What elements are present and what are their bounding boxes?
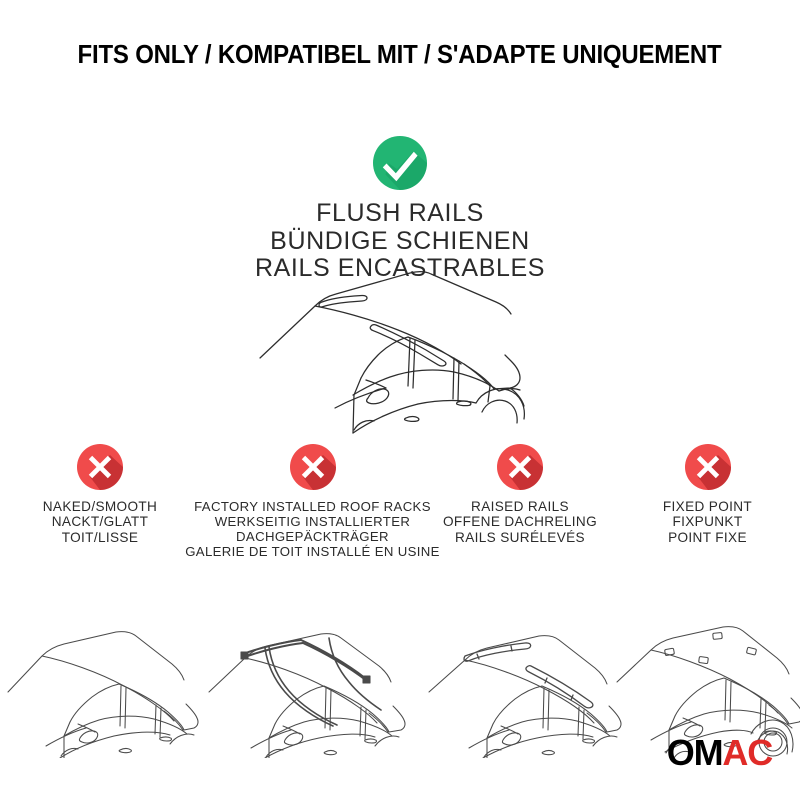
- approved-label-en: FLUSH RAILS: [255, 200, 545, 228]
- option-factory-installed-roof-racks: FACTORY INSTALLED ROOF RACKS WERKSEITIG …: [200, 444, 425, 764]
- option-label-en: FIXED POINT: [663, 499, 752, 514]
- option-label-de: NACKT/GLATT: [43, 514, 157, 529]
- omac-logo: OM AC: [667, 732, 772, 774]
- option-labels: FIXED POINT FIXPUNKT POINT FIXE: [663, 499, 752, 545]
- option-labels: RAISED RAILS OFFENE DACHRELING RAILS SUR…: [443, 499, 597, 545]
- option-label-fr: TOIT/LISSE: [43, 530, 157, 545]
- header: FITS ONLY / KOMPATIBEL MIT / S'ADAPTE UN…: [0, 0, 800, 110]
- logo-text-om: OM: [667, 732, 723, 774]
- option-label-en: RAISED RAILS: [443, 499, 597, 514]
- check-circle-icon: [373, 136, 427, 190]
- x-circle-icon: [290, 444, 336, 490]
- option-label-de-1: WERKSEITIG INSTALLIERTER: [185, 514, 440, 529]
- option-label-de: FIXPUNKT: [663, 514, 752, 529]
- x-circle-icon: [77, 444, 123, 490]
- suv-bare-roof-illustration: [4, 626, 200, 758]
- suv-raised-rails-illustration: [425, 626, 623, 758]
- option-fixed-point: FIXED POINT FIXPUNKT POINT FIXE: [615, 444, 800, 764]
- logo-text-ac: AC: [722, 732, 772, 774]
- approved-section: FLUSH RAILS BÜNDIGE SCHIENEN RAILS ENCAS…: [0, 136, 800, 283]
- page-title: FITS ONLY / KOMPATIBEL MIT / S'ADAPTE UN…: [78, 41, 722, 70]
- x-circle-icon: [497, 444, 543, 490]
- suv-factory-crossbars-illustration: [205, 626, 415, 758]
- option-label-fr: POINT FIXE: [663, 530, 752, 545]
- option-labels: FACTORY INSTALLED ROOF RACKS WERKSEITIG …: [185, 499, 440, 559]
- approved-label-de: BÜNDIGE SCHIENEN: [255, 228, 545, 256]
- suv-flush-rails-illustration: [258, 262, 568, 437]
- option-label-fr: GALERIE DE TOIT INSTALLÉ EN USINE: [185, 544, 440, 559]
- option-label-de: OFFENE DACHRELING: [443, 514, 597, 529]
- rejected-options-row: NAKED/SMOOTH NACKT/GLATT TOIT/LISSE: [0, 444, 800, 764]
- option-label-de-2: DACHGEPÄCKTRÄGER: [185, 529, 440, 544]
- option-labels: NAKED/SMOOTH NACKT/GLATT TOIT/LISSE: [43, 499, 157, 545]
- option-naked-smooth: NAKED/SMOOTH NACKT/GLATT TOIT/LISSE: [0, 444, 200, 764]
- option-label-fr: RAILS SURÉLEVÉS: [443, 530, 597, 545]
- x-circle-icon: [685, 444, 731, 490]
- option-label-en: FACTORY INSTALLED ROOF RACKS: [185, 499, 440, 514]
- option-label-en: NAKED/SMOOTH: [43, 499, 157, 514]
- option-raised-rails: RAISED RAILS OFFENE DACHRELING RAILS SUR…: [425, 444, 615, 764]
